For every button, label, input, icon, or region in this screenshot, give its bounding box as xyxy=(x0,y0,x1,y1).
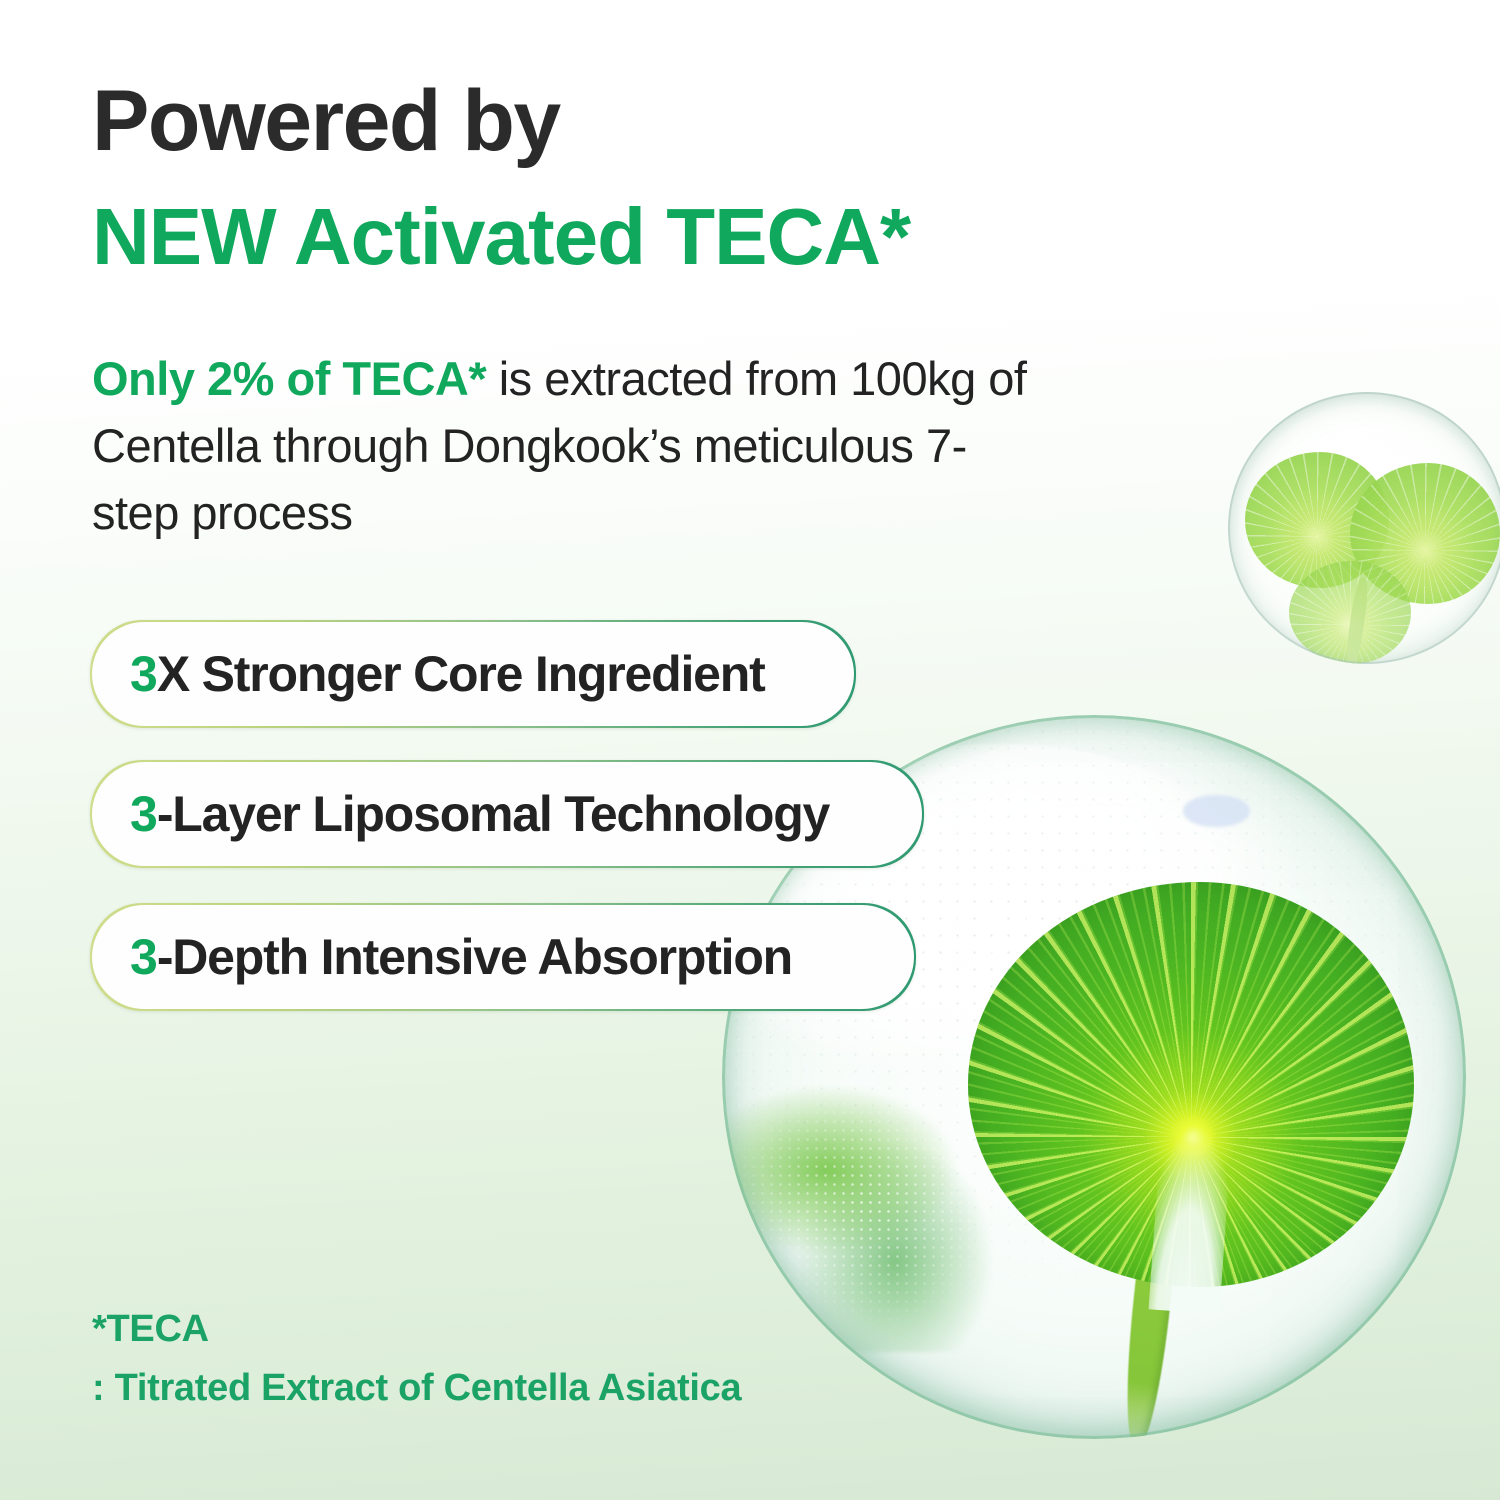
content-layer: Powered by NEW Activated TECA* Only 2% o… xyxy=(0,0,1500,1500)
feature-label: -Layer Liposomal Technology xyxy=(157,785,829,843)
promo-graphic: Powered by NEW Activated TECA* Only 2% o… xyxy=(0,0,1500,1500)
footnote-line-1: *TECA xyxy=(92,1300,741,1359)
headline-line-1: Powered by xyxy=(92,78,560,166)
footnote: *TECA : Titrated Extract of Centella Asi… xyxy=(92,1300,741,1418)
feature-pill[interactable]: 3-Layer Liposomal Technology xyxy=(90,760,924,868)
feature-pill-inner: 3X Stronger Core Ingredient xyxy=(92,622,854,726)
feature-label: X Stronger Core Ingredient xyxy=(157,645,765,703)
footnote-line-2: : Titrated Extract of Centella Asiatica xyxy=(92,1359,741,1418)
feature-pill[interactable]: 3-Depth Intensive Absorption xyxy=(90,903,916,1011)
feature-number: 3 xyxy=(130,785,157,843)
feature-number: 3 xyxy=(130,928,157,986)
headline-line-2: NEW Activated TECA* xyxy=(92,196,910,278)
body-highlight: Only 2% of TECA* xyxy=(92,352,486,405)
feature-pill[interactable]: 3X Stronger Core Ingredient xyxy=(90,620,856,728)
feature-pill-inner: 3-Layer Liposomal Technology xyxy=(92,762,922,866)
feature-label: -Depth Intensive Absorption xyxy=(157,928,792,986)
feature-number: 3 xyxy=(130,645,157,703)
feature-pill-inner: 3-Depth Intensive Absorption xyxy=(92,905,914,1009)
body-paragraph: Only 2% of TECA* is extracted from 100kg… xyxy=(92,345,1052,547)
